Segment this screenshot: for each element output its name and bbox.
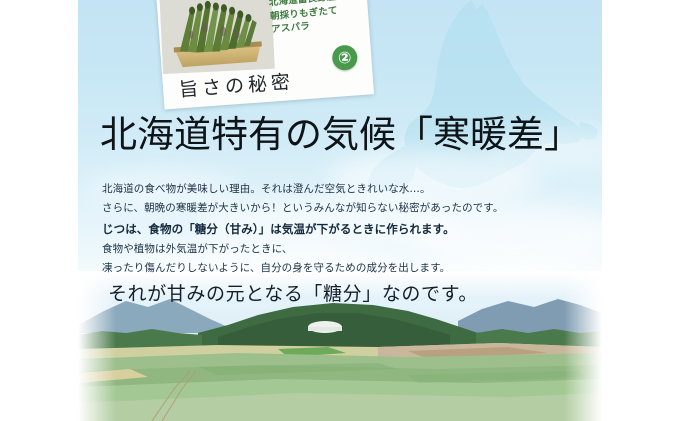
body-line: 北海道の食べ物が美味しい理由。それは澄んだ空気ときれいな水…。	[102, 180, 572, 199]
asparagus-photo	[159, 0, 275, 74]
body-copy: 北海道の食べ物が美味しい理由。それは澄んだ空気ときれいな水…。 さらに、朝晩の寒…	[102, 180, 572, 278]
closing-statement: それが甘みの元となる「糖分」なのです。	[108, 281, 478, 307]
card-handwritten-note: 北海道富良野産の 朝採りもぎたて アスパラ	[268, 0, 367, 37]
step-number-badge: ②	[331, 44, 358, 71]
promo-banner: 北海道特有の気候「寒暖差」 北海道の食べ物が美味しい理由。それは澄んだ空気ときれ…	[0, 0, 680, 421]
body-line-emphasis: じつは、食物の「糖分（甘み）」は気温が下がるときに作られます。	[102, 218, 572, 240]
body-line: さらに、朝晩の寒暖差が大きいから！というみんなが知らない秘密があったのです。	[102, 199, 572, 218]
content-panel: 北海道特有の気候「寒暖差」 北海道の食べ物が美味しい理由。それは澄んだ空気ときれ…	[78, 0, 602, 421]
body-line: 凍ったり傷んだりしないように、自分の身を守るための成分を出します。	[102, 259, 572, 278]
page-title: 北海道特有の気候「寒暖差」	[100, 112, 581, 158]
body-line: 食物や植物は外気温が下がったときに、	[102, 240, 572, 259]
secret-card: 北海道富良野産の 朝採りもぎたて アスパラ 旨さの秘密 ②	[156, 0, 374, 110]
